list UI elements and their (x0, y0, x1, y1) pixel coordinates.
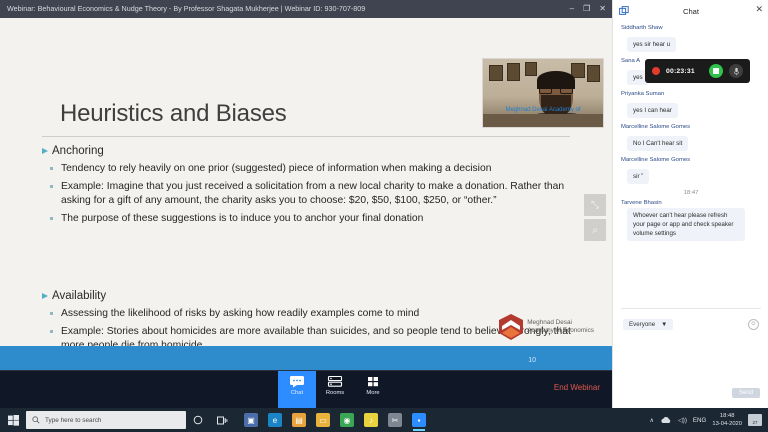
title-divider (42, 136, 570, 137)
language-indicator[interactable]: ENG (693, 417, 706, 424)
notes-icon[interactable]: ♪ (360, 408, 382, 432)
presenter-glasses (539, 87, 573, 94)
chat-message-text: yes sir hear u (627, 37, 676, 52)
wall-frame (507, 63, 520, 81)
chat-recipient-dropdown[interactable]: Everyone ▼ (623, 319, 673, 330)
search-input[interactable]: Type here to search (26, 411, 186, 429)
rooms-icon (327, 375, 343, 388)
chat-message-text: sir ” (627, 169, 649, 184)
slide-number: 10 (528, 357, 536, 364)
toolbar-label: More (366, 390, 379, 396)
chat-divider (621, 308, 761, 309)
fullscreen-icon[interactable]: ⤡ (584, 194, 606, 216)
chat-message-text: Whoever can't hear please refresh your p… (627, 208, 745, 241)
cortana-circle-icon[interactable] (186, 408, 210, 432)
chat-timestamp: 18:47 (621, 190, 761, 196)
logo-text: Meghnad Desai Academy of Economics (527, 319, 594, 335)
clock-time: 18:48 (712, 412, 742, 420)
section-heading: Anchoring (42, 145, 582, 157)
windows-start-icon[interactable] (0, 408, 26, 432)
toolbar-items: Chat Rooms More (278, 371, 392, 409)
chat-sender-name: Marcelline Salome Gomes (621, 157, 761, 163)
chat-sender-name: Siddharth Shaw (621, 25, 761, 31)
zoom-toolbar: Chat Rooms More (0, 370, 612, 408)
section-heading: Availability (42, 290, 582, 302)
notification-icon[interactable]: 27 (748, 414, 762, 426)
minimize-button[interactable]: – (570, 0, 574, 18)
volume-icon[interactable]: ◁)) (678, 417, 687, 424)
task-view-icon[interactable] (210, 408, 234, 432)
more-icon (365, 375, 381, 388)
chat-header: Chat ✕ (613, 0, 768, 22)
search-placeholder: Type here to search (45, 417, 101, 424)
window-titlebar: Webinar: Behavioural Economics & Nudge T… (0, 0, 612, 18)
chat-message: Marcelline Salome Gomes No I Can't hear … (621, 124, 761, 151)
tray-chevron-icon[interactable]: ∧ (650, 417, 655, 424)
chat-send-button[interactable]: Send (732, 388, 760, 398)
academy-logo: Meghnad Desai Academy of Economics (499, 314, 594, 340)
logo-line-1: Meghnad Desai (527, 319, 594, 327)
onedrive-icon[interactable] (660, 416, 672, 424)
chat-message: Tarvene Bhasin Whoever can't hear please… (621, 200, 761, 241)
end-webinar-button[interactable]: End Webinar (554, 383, 600, 392)
zoom-magnifier-icon[interactable]: ⌕ (584, 219, 606, 241)
wall-frame (587, 65, 600, 82)
webcam-caption: Meghnad Desai Academy of (483, 107, 603, 113)
slide-section-anchoring: Anchoring Tendency to rely heavily on on… (42, 145, 582, 226)
system-tray: ∧ ◁)) ENG 18:48 13-04-2020 27 (650, 412, 768, 428)
task-view-glyph (217, 416, 228, 425)
arrow-bullet-icon (42, 293, 48, 299)
zoom-icon[interactable]: ▪ (408, 408, 430, 432)
teams-icon[interactable]: ▣ (240, 408, 262, 432)
section-bullets: Tendency to rely heavily on one prior (s… (42, 162, 582, 226)
recording-timer: 00:23:31 (666, 68, 695, 75)
chat-recipient-row: Everyone ▼ ☺ (613, 315, 768, 333)
presenter-webcam-thumbnail[interactable]: Meghnad Desai Academy of (482, 58, 604, 128)
chat-sender-name: Tarvene Bhasin (621, 200, 761, 206)
popout-icon[interactable] (619, 6, 629, 16)
store-icon[interactable]: ▤ (288, 408, 310, 432)
recording-indicator-icon (652, 67, 660, 75)
section-heading-label: Availability (52, 290, 106, 302)
chat-input[interactable] (621, 336, 761, 382)
close-button[interactable]: ✕ (599, 0, 606, 18)
zoom-meeting-window: Webinar: Behavioural Economics & Nudge T… (0, 0, 612, 408)
chat-message: Siddharth Shaw yes sir hear u (621, 25, 761, 52)
slide-footer-bar (0, 346, 612, 370)
chat-sender-name: Marcelline Salome Gomes (621, 124, 761, 130)
slide-title: Heuristics and Biases (60, 100, 287, 128)
window-title: Webinar: Behavioural Economics & Nudge T… (7, 4, 365, 13)
clock-date: 13-04-2020 (712, 420, 742, 428)
snip-icon[interactable]: ✂ (384, 408, 406, 432)
microphone-icon[interactable] (729, 64, 743, 78)
maximize-button[interactable]: ❐ (583, 0, 590, 18)
toolbar-button-rooms[interactable]: Rooms (316, 371, 354, 409)
chat-message: Priyanka Suman yes I can hear (621, 91, 761, 118)
toolbar-label: Rooms (326, 390, 344, 396)
notification-count: 27 (753, 420, 758, 425)
presenter-desk (483, 114, 603, 127)
chat-message: Marcelline Salome Gomes sir ” (621, 157, 761, 184)
shared-screen-area: Heuristics and Biases Anchoring Tendency… (0, 18, 612, 370)
toolbar-button-chat[interactable]: Chat (278, 371, 316, 409)
recording-control-widget: 00:23:31 (645, 59, 750, 83)
emoji-icon[interactable]: ☺ (748, 319, 759, 330)
chat-message-text: yes I can hear (627, 103, 678, 118)
cortana-glyph (193, 415, 203, 425)
wall-frame (525, 62, 537, 76)
mic-glyph (733, 67, 740, 76)
clock[interactable]: 18:48 13-04-2020 (712, 412, 742, 428)
chat-message-text: No I Can't hear sit (627, 136, 688, 151)
toolbar-label: Chat (291, 390, 303, 396)
taskbar-app-icons: ▣ e ▤ ▭ ◉ ♪ ✂ ▪ (240, 408, 430, 432)
bullet-item: Example: Imagine that you just received … (42, 180, 582, 207)
bullet-item: The purpose of these suggestions is to i… (42, 212, 582, 225)
chat-icon (289, 375, 305, 388)
bullet-item: Tendency to rely heavily on one prior (s… (42, 162, 582, 175)
window-controls: – ❐ ✕ (570, 0, 606, 18)
chevron-down-icon: ▼ (661, 321, 667, 328)
file-explorer-icon[interactable]: ▭ (312, 408, 334, 432)
section-heading-label: Anchoring (52, 145, 104, 157)
stop-recording-button[interactable] (709, 64, 723, 78)
windows-taskbar: Type here to search ▣ e ▤ ▭ ◉ ♪ ✂ ▪ ∧ ◁)… (0, 408, 768, 432)
screen-share-view-controls: ⤡ ⌕ (584, 194, 606, 241)
chrome-icon[interactable]: ◉ (336, 408, 358, 432)
chat-sender-name: Priyanka Suman (621, 91, 761, 97)
chat-close-icon[interactable]: ✕ (755, 4, 763, 15)
chat-recipient-label: Everyone (629, 321, 655, 328)
logo-line-2: Academy of Economics (527, 327, 594, 335)
wall-frame (489, 65, 503, 81)
edge-icon[interactable]: e (264, 408, 286, 432)
search-icon (32, 416, 40, 424)
logo-mark-icon (499, 314, 523, 340)
toolbar-button-more[interactable]: More (354, 371, 392, 409)
arrow-bullet-icon (42, 148, 48, 154)
start-glyph (8, 415, 19, 426)
chat-title: Chat (683, 7, 699, 16)
